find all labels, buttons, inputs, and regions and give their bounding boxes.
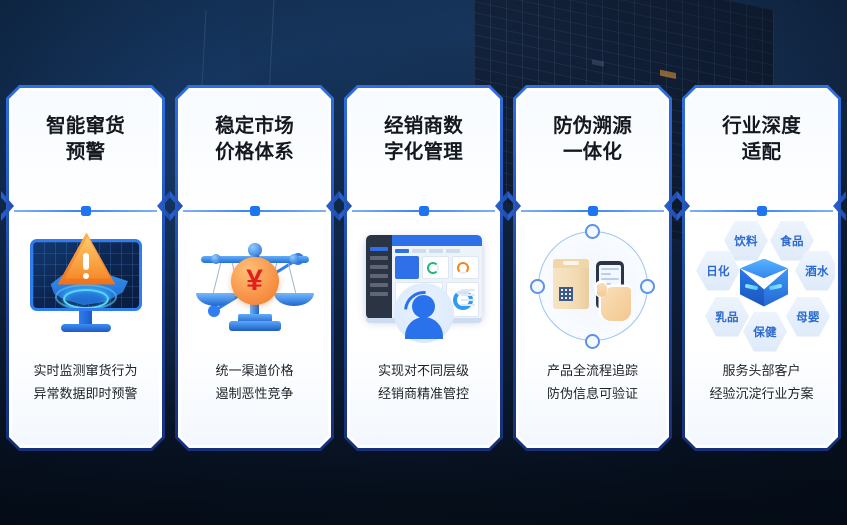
card-title-line2: 预警	[12, 140, 159, 166]
card-title: 智能窜货 预警	[12, 114, 159, 166]
feature-card-3[interactable]: 经销商数 字化管理	[344, 85, 503, 451]
feature-card-5[interactable]: 行业深度 适配 饮料 食品 日化 酒水 乳品 保健 母婴	[682, 85, 841, 451]
card-title-line1: 智能窜货	[12, 114, 159, 140]
divider-dot	[250, 206, 260, 216]
hand-finger	[597, 283, 607, 297]
card-title-line2: 一体化	[519, 140, 666, 166]
orbit-node-bottom	[585, 334, 600, 349]
dashboard-user-icon	[360, 233, 488, 341]
card-title-line2: 适配	[688, 140, 835, 166]
industry-cube-icon: 饮料 食品 日化 酒水 乳品 保健 母婴	[688, 221, 835, 353]
card-divider	[181, 205, 328, 217]
orbit-node-top	[585, 224, 600, 239]
card-illustration	[519, 219, 666, 354]
card-desc-line2: 防伪信息可验证	[523, 383, 662, 405]
qr-code-icon	[559, 287, 573, 301]
card-title-line1: 防伪溯源	[519, 114, 666, 140]
dashboard-tab	[429, 249, 443, 253]
kpi-card-green	[422, 256, 449, 279]
avatar-head	[412, 295, 435, 318]
card-title: 防伪溯源 一体化	[519, 114, 666, 166]
sidebar-nav-item	[370, 292, 388, 296]
card-desc-line1: 实时监测窜货行为	[16, 360, 155, 382]
exclamation-dot	[83, 273, 89, 279]
card-description: 实时监测窜货行为 异常数据即时预警	[16, 360, 155, 405]
monitor-alert-icon	[24, 235, 148, 339]
feature-card-1[interactable]: 智能窜货 预警	[6, 85, 165, 451]
orbit-node-left	[530, 279, 545, 294]
kpi-card-primary	[395, 256, 420, 279]
card-face: 防伪溯源 一体化	[519, 91, 666, 445]
divider-dot	[419, 206, 429, 216]
scale-base	[229, 321, 281, 331]
package-qr-phone-icon	[529, 225, 657, 349]
phone-text-line	[601, 278, 619, 280]
exclamation-bar	[83, 253, 89, 270]
legend-line	[461, 289, 475, 291]
card-face: 稳定市场 价格体系	[181, 91, 328, 445]
card-title: 行业深度 适配	[688, 114, 835, 166]
cube-3d	[740, 259, 788, 309]
divider-dot	[757, 206, 767, 216]
card-divider	[12, 205, 159, 217]
legend-line	[461, 294, 475, 296]
sidebar-nav-item	[370, 256, 388, 260]
card-title-line1: 行业深度	[688, 114, 835, 140]
card-description: 实现对不同层级 经销商精准管控	[354, 360, 493, 405]
dashboard-tabs	[395, 249, 479, 253]
kpi-card-orange	[452, 256, 479, 279]
sidebar-nav-item	[370, 283, 388, 287]
scale-hinge-right	[289, 254, 299, 264]
card-divider	[688, 205, 835, 217]
card-desc-line2: 遏制恶性竞争	[185, 383, 324, 405]
legend-line	[461, 304, 475, 306]
card-illustration	[350, 219, 497, 354]
yuan-coin-icon: ¥	[231, 257, 279, 305]
legend-lines	[461, 289, 475, 309]
dashboard-tab	[412, 249, 426, 253]
dashboard-tab	[395, 249, 409, 253]
card-face: 经销商数 字化管理	[350, 91, 497, 445]
card-illustration: ¥	[181, 219, 328, 354]
industry-tag-maternal: 母婴	[786, 297, 830, 337]
avatar	[394, 283, 454, 343]
card-face: 智能窜货 预警	[12, 91, 159, 445]
card-desc-line2: 经验沉淀行业方案	[692, 383, 831, 405]
card-desc-line2: 异常数据即时预警	[16, 383, 155, 405]
slide-canvas: 智能窜货 预警	[0, 0, 847, 525]
card-illustration: 饮料 食品 日化 酒水 乳品 保健 母婴	[688, 219, 835, 354]
package-handle	[563, 261, 579, 265]
card-divider	[350, 205, 497, 217]
card-illustration	[12, 219, 159, 354]
scale-hinge-left	[211, 254, 221, 264]
card-title: 稳定市场 价格体系	[181, 114, 328, 166]
divider-dot	[81, 206, 91, 216]
card-desc-line1: 实现对不同层级	[354, 360, 493, 382]
dashboard-sidebar	[366, 235, 392, 319]
orbit-node-right	[640, 279, 655, 294]
card-desc-line2: 经销商精准管控	[354, 383, 493, 405]
card-title-line2: 字化管理	[350, 140, 497, 166]
card-title: 经销商数 字化管理	[350, 114, 497, 166]
monitor-base	[61, 324, 111, 332]
card-title-line1: 经销商数	[350, 114, 497, 140]
card-face: 行业深度 适配 饮料 食品 日化 酒水 乳品 保健 母婴	[688, 91, 835, 445]
divider-dot	[588, 206, 598, 216]
phone-text-line	[601, 273, 612, 275]
sidebar-nav-item	[370, 265, 388, 269]
feature-card-4[interactable]: 防伪溯源 一体化	[513, 85, 672, 451]
card-desc-line1: 产品全流程追踪	[523, 360, 662, 382]
monitor-stand	[79, 311, 92, 325]
card-description: 统一渠道价格 遏制恶性竞争	[185, 360, 324, 405]
phone-text-line	[601, 268, 619, 270]
card-desc-line1: 服务头部客户	[692, 360, 831, 382]
feature-card-2[interactable]: 稳定市场 价格体系	[175, 85, 334, 451]
dashboard-kpi-row	[395, 256, 479, 279]
card-divider	[519, 205, 666, 217]
card-desc-line1: 统一渠道价格	[185, 360, 324, 382]
dashboard-topbar	[392, 235, 482, 246]
progress-ring-green	[427, 262, 439, 274]
pulse-ring-inner	[63, 289, 109, 309]
industry-tag-health: 保健	[743, 312, 787, 352]
dashboard-tab	[446, 249, 460, 253]
card-title-line1: 稳定市场	[181, 114, 328, 140]
card-description: 产品全流程追踪 防伪信息可验证	[523, 360, 662, 405]
feature-card-row: 智能窜货 预警	[0, 85, 847, 455]
sidebar-nav-item	[370, 247, 388, 251]
card-description: 服务头部客户 经验沉淀行业方案	[692, 360, 831, 405]
sidebar-nav-item	[370, 274, 388, 278]
balance-scale-yuan-icon: ¥	[192, 231, 318, 343]
progress-ring-orange	[457, 262, 469, 274]
card-title-line2: 价格体系	[181, 140, 328, 166]
legend-line	[461, 299, 475, 301]
